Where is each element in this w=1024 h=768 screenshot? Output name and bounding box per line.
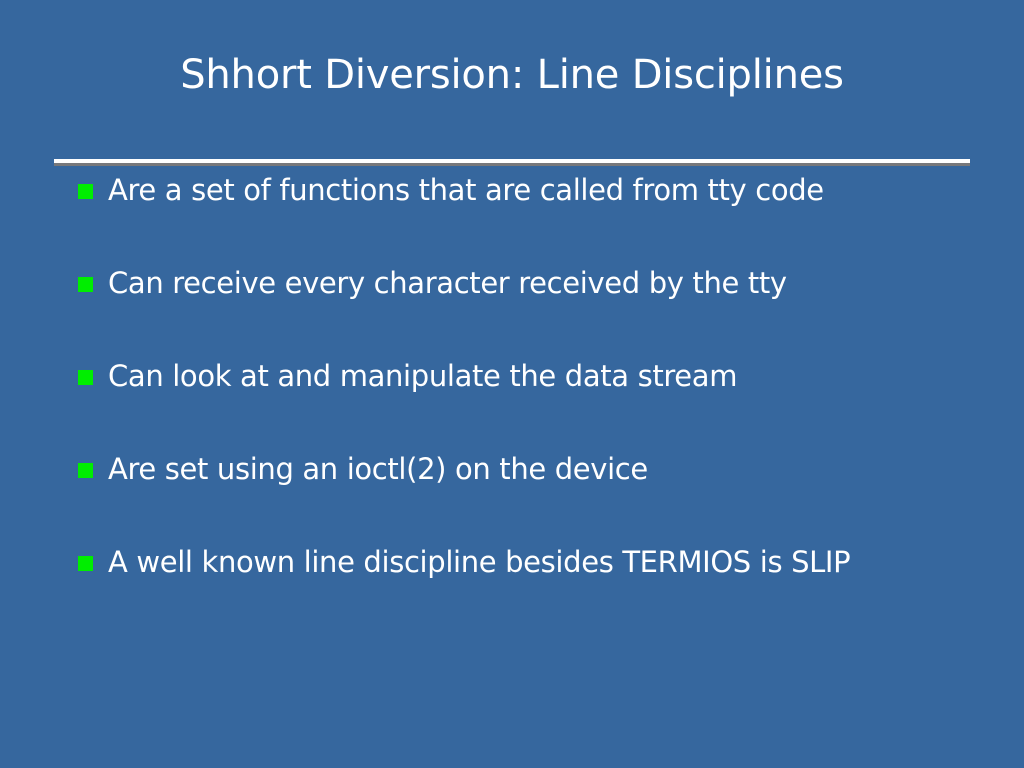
presentation-slide: Shhort Diversion: Line Disciplines Are a… [0,0,1024,768]
green-square-bullet-icon [78,370,93,385]
list-item: Are set using an ioctl(2) on the device [0,449,1024,542]
list-item-label: Are set using an ioctl(2) on the device [108,449,648,489]
slide-title-block: Shhort Diversion: Line Disciplines [0,46,1024,122]
list-item: Are a set of functions that are called f… [0,170,1024,263]
list-item-label: A well known line discipline besides TER… [108,542,850,582]
list-item: A well known line discipline besides TER… [0,542,1024,635]
title-divider-shadow [54,163,970,166]
list-item-label: Are a set of functions that are called f… [108,170,824,210]
bullet-list: Are a set of functions that are called f… [0,170,1024,635]
green-square-bullet-icon [78,277,93,292]
page-title: Shhort Diversion: Line Disciplines [54,46,970,104]
green-square-bullet-icon [78,556,93,571]
title-divider [54,159,970,166]
list-item-label: Can look at and manipulate the data stre… [108,356,737,396]
list-item: Can look at and manipulate the data stre… [0,356,1024,449]
list-item-label: Can receive every character received by … [108,263,787,303]
green-square-bullet-icon [78,463,93,478]
list-item: Can receive every character received by … [0,263,1024,356]
green-square-bullet-icon [78,184,93,199]
